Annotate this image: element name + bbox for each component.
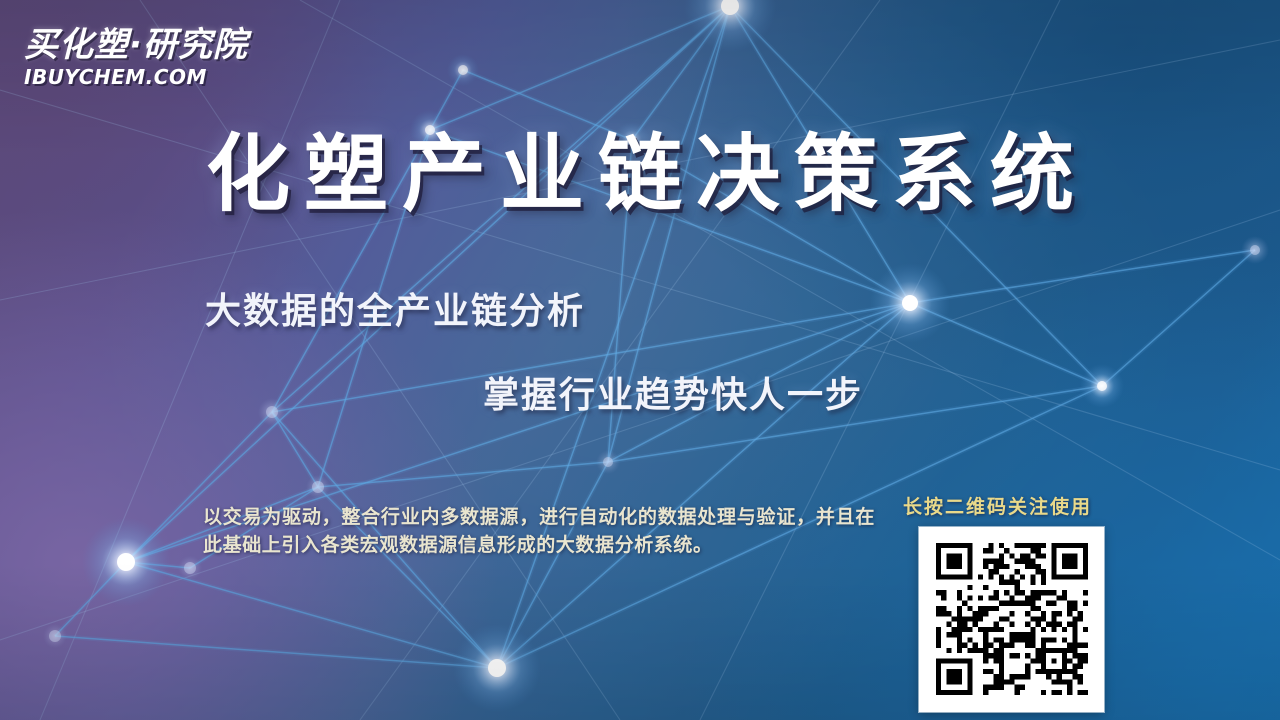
page-title: 化塑产业链决策系统: [0, 128, 1280, 220]
qr-code-image[interactable]: [936, 543, 1088, 695]
brand-logo[interactable]: 买化塑·研究院 IBUYCHEM.COM: [24, 28, 296, 89]
brand-logo-en: IBUYCHEM.COM: [24, 65, 296, 89]
promo-banner: 买化塑·研究院 IBUYCHEM.COM 化塑产业链决策系统 大数据的全产业链分…: [0, 0, 1280, 720]
description-paragraph: 以交易为驱动，整合行业内多数据源，进行自动化的数据处理与验证，并且在此基础上引入…: [203, 503, 875, 559]
qr-caption: 长按二维码关注使用: [903, 492, 1092, 519]
subtitle-primary: 大数据的全产业链分析: [205, 282, 585, 334]
qr-code-frame[interactable]: [919, 527, 1104, 712]
brand-logo-cn: 买化塑·研究院: [24, 28, 296, 64]
subtitle-secondary: 掌握行业趋势快人一步: [483, 366, 863, 418]
